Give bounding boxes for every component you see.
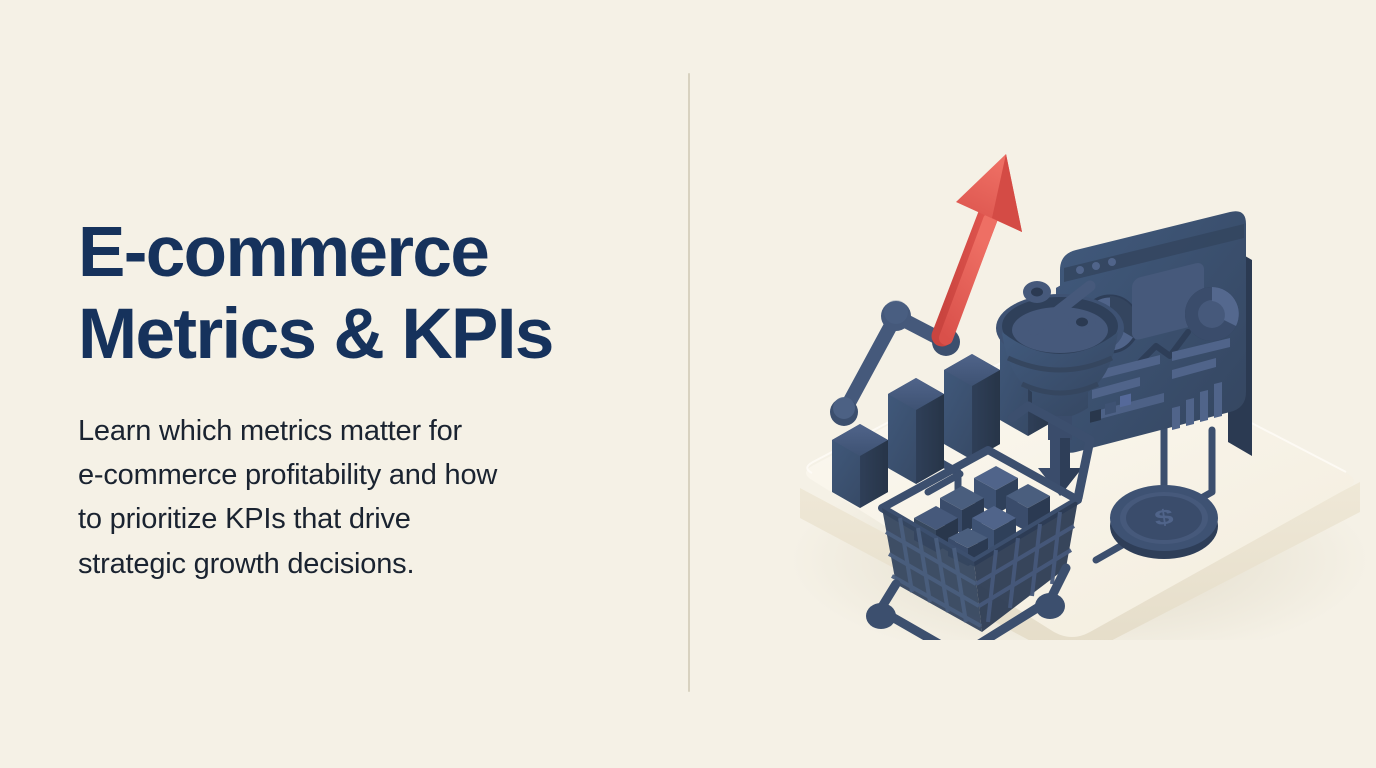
bar-2 — [888, 378, 944, 484]
slide-canvas: E-commerce Metrics & KPIs Learn which me… — [0, 0, 1376, 768]
dollar-coin: $ — [1110, 485, 1218, 559]
dollar-symbol: $ — [1153, 504, 1175, 530]
vertical-divider — [688, 73, 690, 692]
ecommerce-analytics-illustration: $ — [760, 140, 1376, 640]
text-column: E-commerce Metrics & KPIs Learn which me… — [78, 212, 638, 586]
dashboard-donut-chart — [1185, 287, 1239, 341]
page-subtitle: Learn which metrics matter for e-commerc… — [78, 409, 638, 586]
page-title: E-commerce Metrics & KPIs — [78, 212, 638, 377]
bar-1 — [832, 424, 888, 508]
bar-3 — [944, 354, 1000, 460]
